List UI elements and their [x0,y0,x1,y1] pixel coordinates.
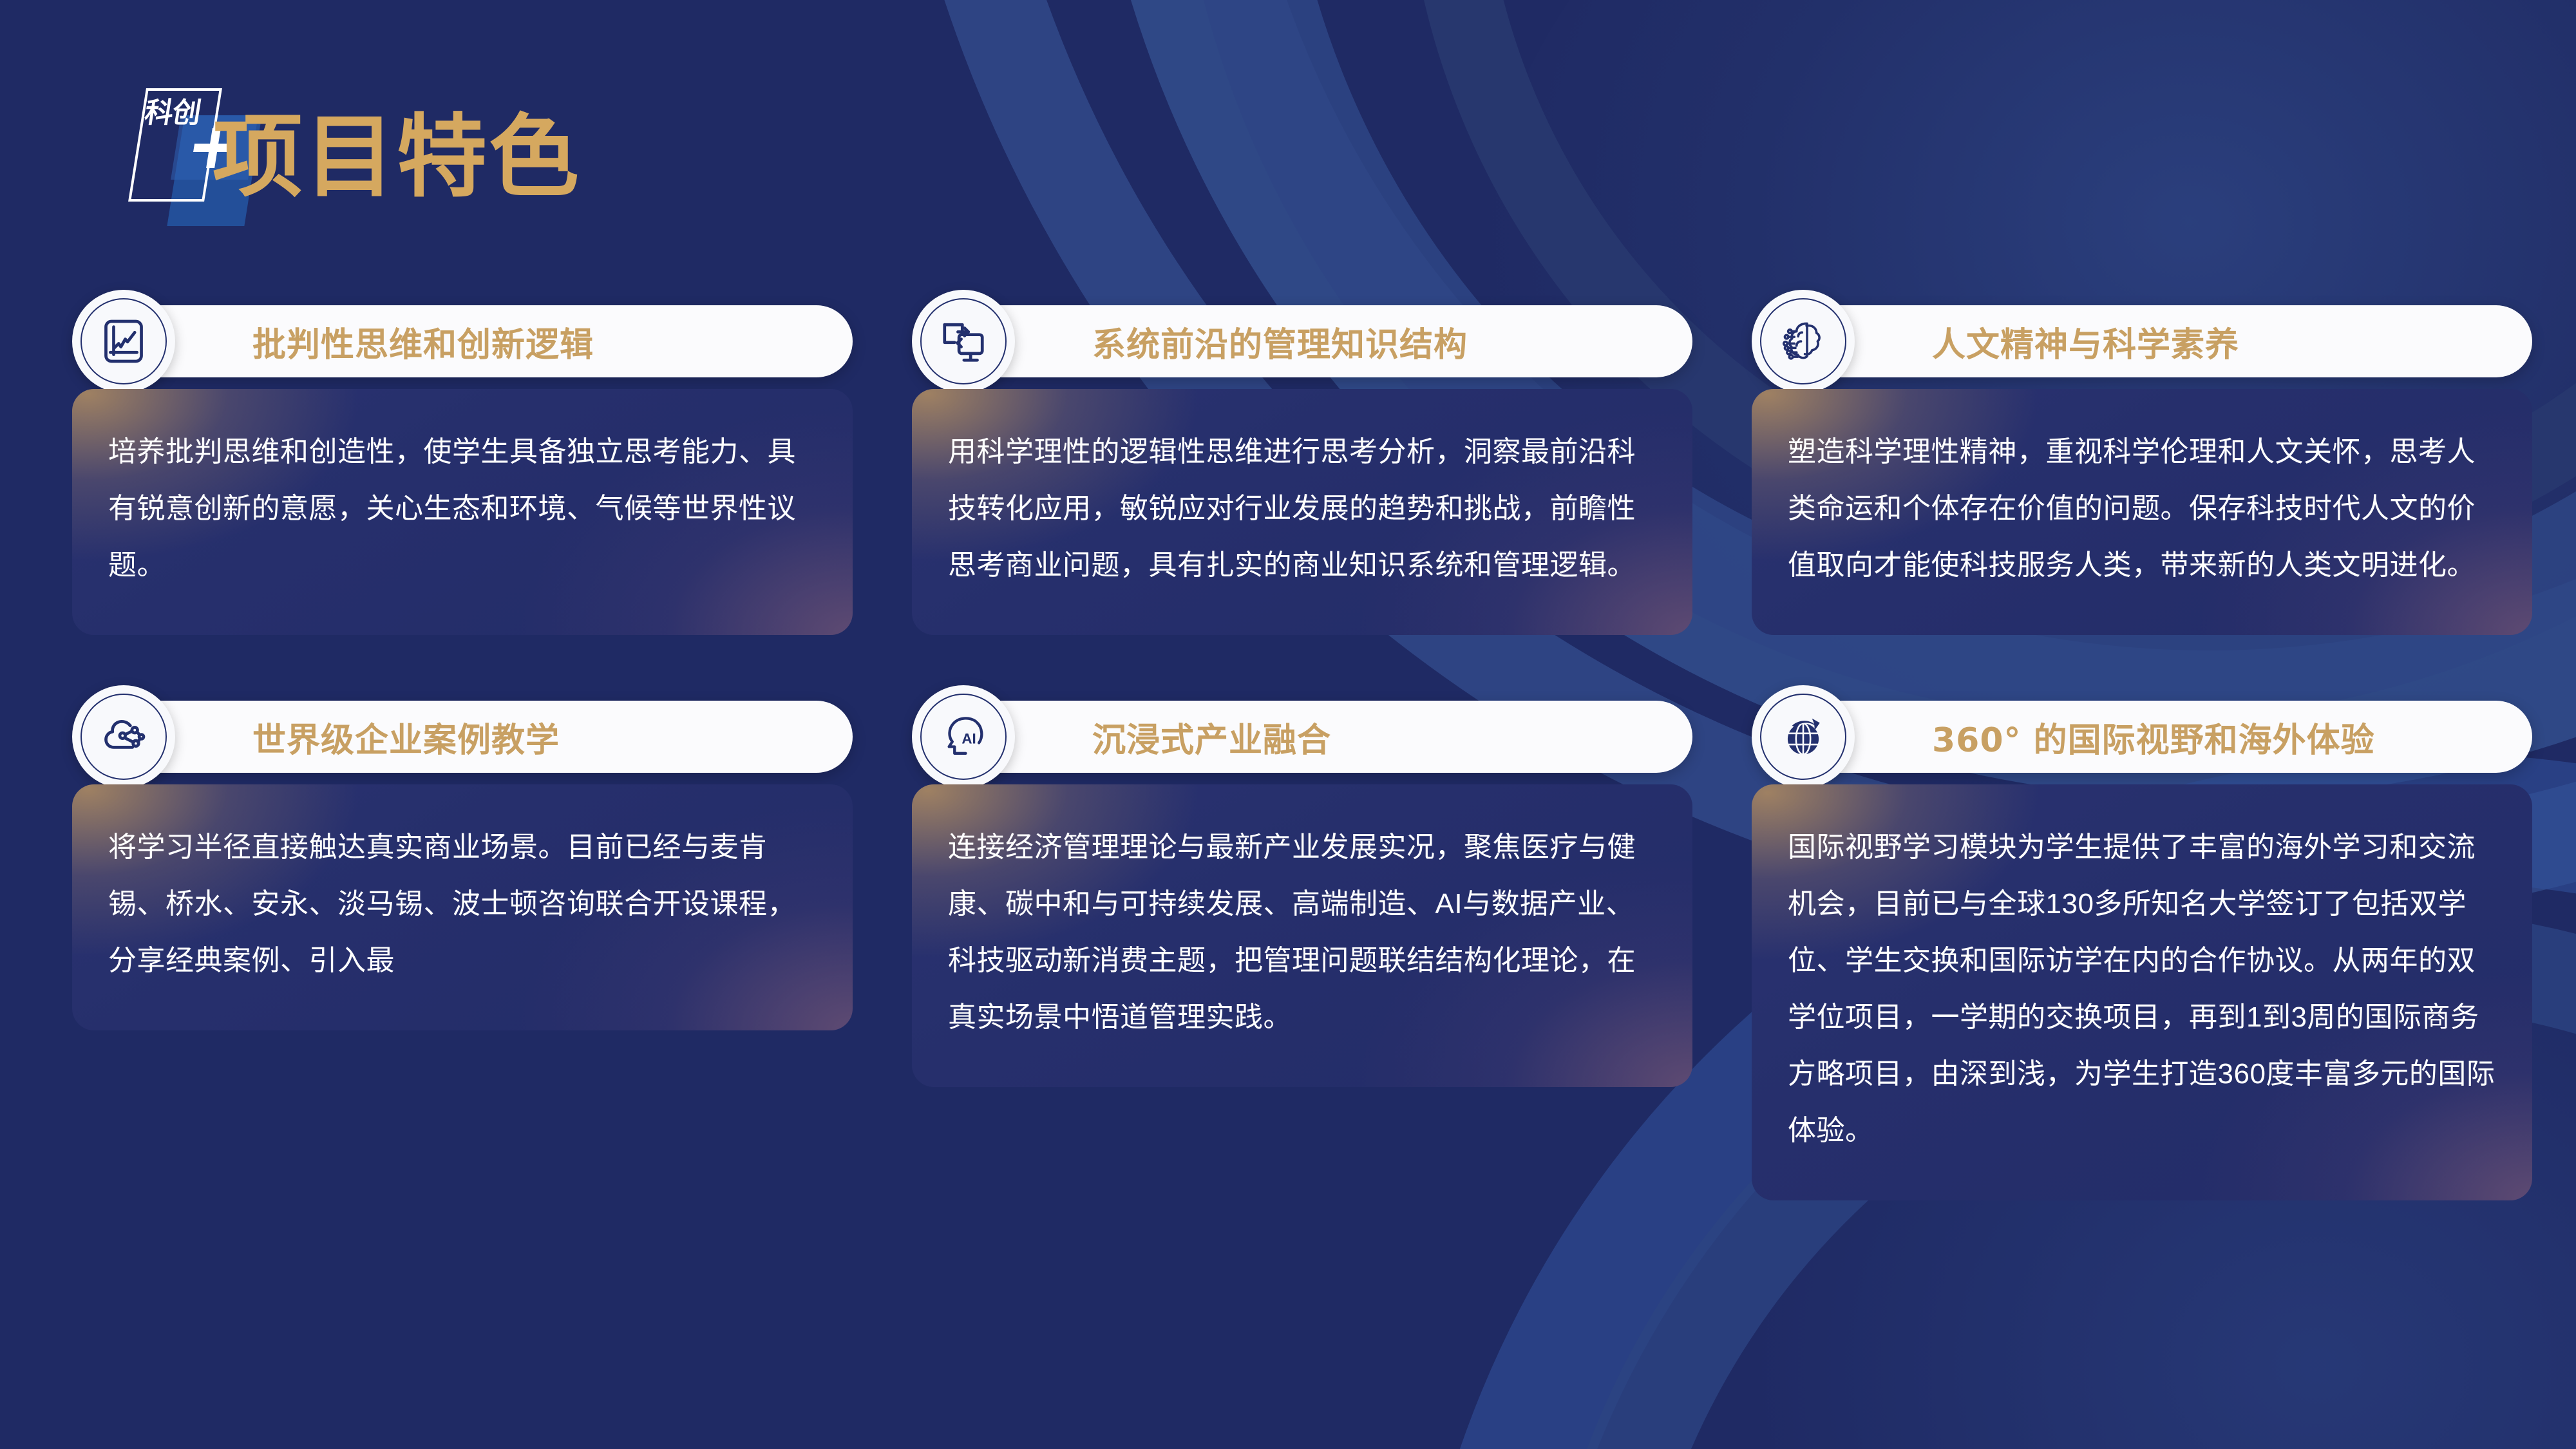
card-title-6: 360° 的国际视野和海外体验 [1932,701,2375,773]
card-title-5: 沉浸式产业融合 [1092,701,1331,773]
feature-card-grid: 批判性思维和创新逻辑 培养批判思维和创造性，使学生具备独立思考能力、具有锐意创新… [72,290,2532,1200]
svg-text:AI: AI [961,730,976,746]
card-title-1: 批判性思维和创新逻辑 [252,305,594,377]
card-description-4: 将学习半径直接触达真实商业场景。目前已经与麦肯锡、桥水、安永、淡马锡、波士顿咨询… [108,819,817,989]
page-title: 项目特色 [213,109,581,206]
feature-card-5[interactable]: 沉浸式产业融合 AI 连接经济管理理论与最新产业发展实况，聚焦医疗与健康、碳中和… [912,685,1692,1200]
card-body-3: 塑造科学理性精神，重视科学伦理和人文关怀，思考人类命运和个体存在价值的问题。保存… [1752,389,2532,635]
card-header-2: 系统前沿的管理知识结构 [957,290,1692,393]
card-header-5: 沉浸式产业融合 AI [957,685,1692,788]
feature-card-3[interactable]: 人文精神与科学素养 [1752,290,2532,635]
card-title-3: 人文精神与科学素养 [1932,305,2239,377]
line-chart-icon [72,290,175,393]
logo-text: 科创 [142,97,209,129]
feature-card-4[interactable]: 世界级企业案例教学 [72,685,853,1200]
cloud-network-icon [72,685,175,788]
card-description-6: 国际视野学习模块为学生提供了丰富的海外学习和交流机会，目前已与全球130多所知名… [1788,819,2496,1159]
card-description-5: 连接经济管理理论与最新产业发展实况，聚焦医疗与健康、碳中和与可持续发展、高端制造… [948,819,1656,1046]
monitor-sync-icon [912,290,1015,393]
card-header-4: 世界级企业案例教学 [117,685,853,788]
card-header-1: 批判性思维和创新逻辑 [117,290,853,393]
kechuang-logo: 科创 [126,88,223,204]
card-body-4: 将学习半径直接触达真实商业场景。目前已经与麦肯锡、桥水、安永、淡马锡、波士顿咨询… [72,784,853,1030]
card-header-3: 人文精神与科学素养 [1797,290,2532,393]
card-description-3: 塑造科学理性精神，重视科学伦理和人文关怀，思考人类命运和个体存在价值的问题。保存… [1788,424,2496,594]
ai-head-icon: AI [912,685,1015,788]
card-body-2: 用科学理性的逻辑性思维进行思考分析，洞察最前沿科技转化应用，敏锐应对行业发展的趋… [912,389,1692,635]
slide-canvas: 科创 项目特色 批判性思维和创新逻辑 [0,0,2576,1449]
card-title-4: 世界级企业案例教学 [252,701,560,773]
feature-card-2[interactable]: 系统前沿的管理知识结构 [912,290,1692,635]
card-body-5: 连接经济管理理论与最新产业发展实况，聚焦医疗与健康、碳中和与可持续发展、高端制造… [912,784,1692,1087]
brain-circuit-icon [1752,290,1855,393]
card-description-1: 培养批判思维和创造性，使学生具备独立思考能力、具有锐意创新的意愿，关心生态和环境… [108,424,817,594]
globe-icon [1752,685,1855,788]
card-body-6: 国际视野学习模块为学生提供了丰富的海外学习和交流机会，目前已与全球130多所知名… [1752,784,2532,1200]
page-header: 科创 项目特色 [126,74,705,213]
card-body-1: 培养批判思维和创造性，使学生具备独立思考能力、具有锐意创新的意愿，关心生态和环境… [72,389,853,635]
card-description-2: 用科学理性的逻辑性思维进行思考分析，洞察最前沿科技转化应用，敏锐应对行业发展的趋… [948,424,1656,594]
feature-card-1[interactable]: 批判性思维和创新逻辑 培养批判思维和创造性，使学生具备独立思考能力、具有锐意创新… [72,290,853,635]
card-header-6: 360° 的国际视野和海外体验 [1797,685,2532,788]
card-title-2: 系统前沿的管理知识结构 [1092,305,1468,377]
feature-card-6[interactable]: 360° 的国际视野和海外体验 [1752,685,2532,1200]
